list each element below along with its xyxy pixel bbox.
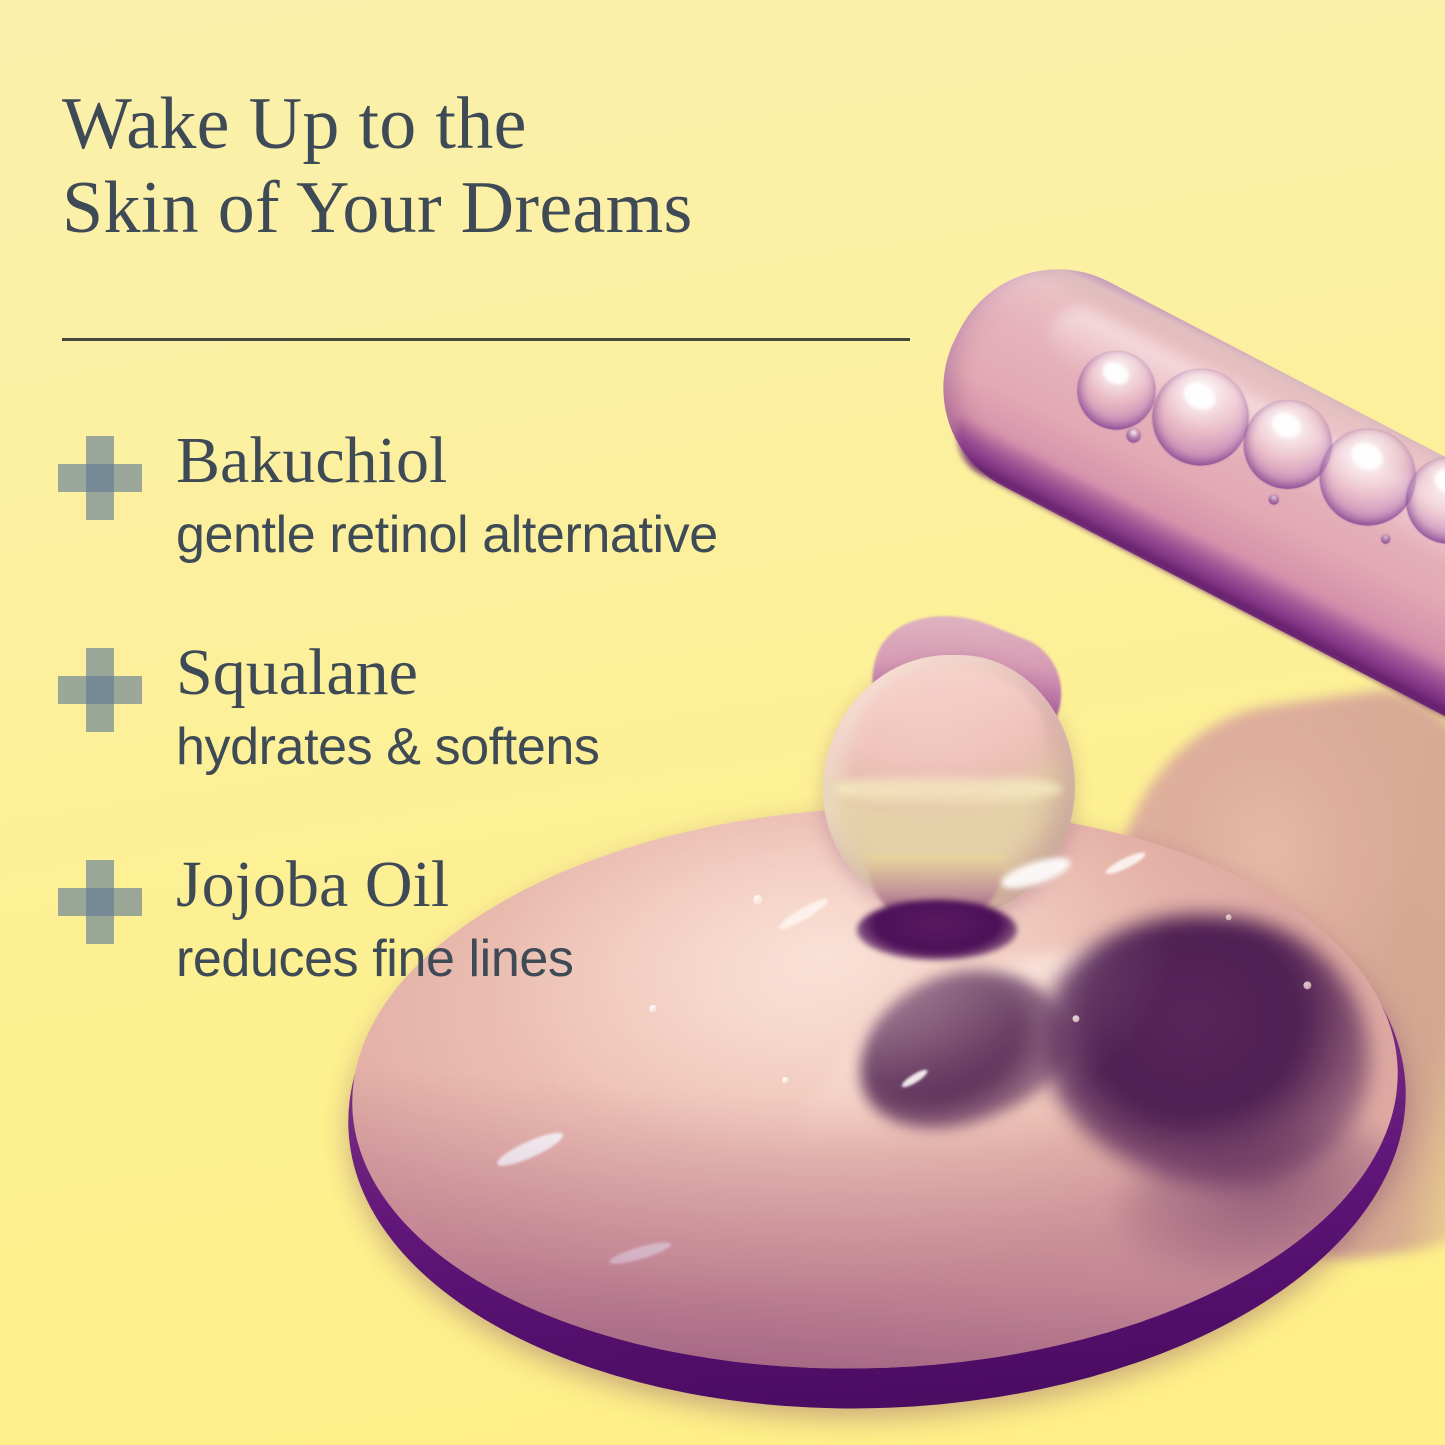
benefit-title: Squalane (176, 632, 1058, 706)
benefit-subtitle: gentle retinol alternative (176, 508, 1058, 563)
plus-icon (58, 436, 142, 520)
plus-icon-horizontal-bar (58, 676, 142, 704)
benefit-item-squalane: Squalane hydrates & softens (58, 632, 1058, 792)
headline-line-2: Skin of Your Dreams (62, 166, 962, 250)
headline-divider (62, 338, 910, 341)
benefit-subtitle: hydrates & softens (176, 720, 1058, 775)
text-content: Wake Up to the Skin of Your Dreams Bakuc… (0, 0, 1445, 1445)
plus-icon (58, 860, 142, 944)
benefit-title: Bakuchiol (176, 420, 1058, 494)
plus-icon (58, 648, 142, 732)
plus-icon-horizontal-bar (58, 464, 142, 492)
benefit-subtitle: reduces fine lines (176, 932, 1058, 987)
benefit-item-jojoba-oil: Jojoba Oil reduces fine lines (58, 844, 1058, 1004)
plus-icon-horizontal-bar (58, 888, 142, 916)
benefit-title: Jojoba Oil (176, 844, 1058, 918)
page-title: Wake Up to the Skin of Your Dreams (62, 82, 962, 251)
benefits-list: Bakuchiol gentle retinol alternative Squ… (58, 420, 1058, 1056)
benefit-item-bakuchiol: Bakuchiol gentle retinol alternative (58, 420, 1058, 580)
headline-line-1: Wake Up to the (62, 82, 962, 166)
product-benefits-graphic: Wake Up to the Skin of Your Dreams Bakuc… (0, 0, 1445, 1445)
